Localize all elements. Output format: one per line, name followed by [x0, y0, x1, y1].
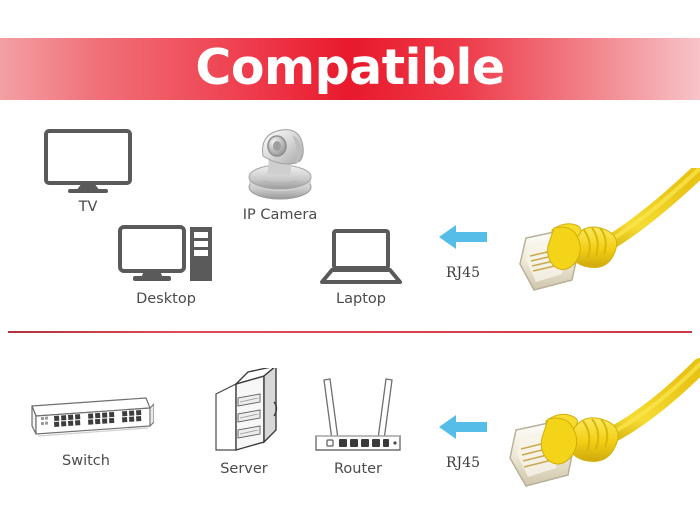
- rj45-cable-top: [512, 168, 700, 308]
- arrow-left-icon: [420, 222, 506, 257]
- device-router: Router: [312, 372, 404, 477]
- network-switch-icon: [18, 386, 154, 453]
- server-rack-icon: [205, 368, 283, 461]
- tv-icon: [38, 128, 138, 199]
- device-label: IP Camera: [228, 207, 332, 223]
- device-label: Desktop: [112, 291, 220, 307]
- desktop-icon: [112, 224, 220, 291]
- device-label: TV: [38, 199, 138, 215]
- device-label: Server: [205, 461, 283, 477]
- router-icon: [312, 372, 404, 461]
- device-tv: TV: [38, 128, 138, 215]
- laptop-icon: [312, 228, 410, 291]
- device-label: Laptop: [312, 291, 410, 307]
- rj45-label: RJ45: [420, 265, 506, 281]
- page-title: Compatible: [0, 38, 700, 100]
- device-ip-camera: IP Camera: [228, 126, 332, 223]
- section-divider: [8, 331, 692, 333]
- device-label: Router: [312, 461, 404, 477]
- device-laptop: Laptop: [312, 228, 410, 307]
- header-banner: Compatible: [0, 38, 700, 100]
- compatibility-diagram: Compatible TV: [0, 0, 700, 525]
- rj45-cable-bottom: [502, 356, 700, 511]
- device-switch: Switch: [18, 386, 154, 469]
- rj45-label: RJ45: [420, 455, 506, 471]
- arrow-left-icon: [420, 412, 506, 447]
- rj45-connection-top: RJ45: [420, 222, 506, 281]
- device-desktop: Desktop: [112, 224, 220, 307]
- ip-camera-icon: [228, 126, 332, 207]
- rj45-connection-bottom: RJ45: [420, 412, 506, 471]
- device-label: Switch: [18, 453, 154, 469]
- device-server: Server: [205, 368, 283, 477]
